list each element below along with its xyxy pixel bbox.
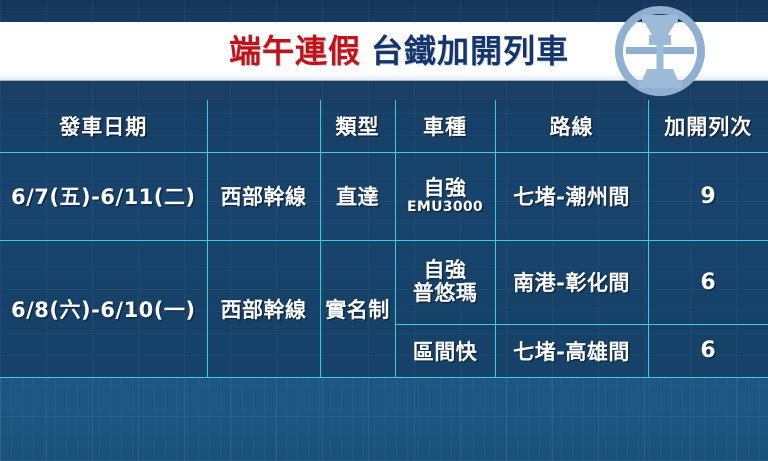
column-header-added-count: 加開列次 <box>648 100 768 152</box>
train-class-model: EMU3000 <box>407 200 483 215</box>
cell-departure-date: 6/7(五)-6/11(二) <box>0 152 207 240</box>
cell-departure-date: 6/8(六)-6/10(一) <box>0 240 207 377</box>
cell-train-class: 自強 普悠瑪 <box>395 240 495 324</box>
title-holiday-label: 端午連假 <box>229 35 361 67</box>
cell-route: 南港-彰化間 <box>495 240 648 324</box>
column-header-train-class: 車種 <box>395 100 495 152</box>
cell-type: 實名制 <box>320 240 395 377</box>
table-row: 6/7(五)-6/11(二) 西部幹線 直達 自強 EMU3000 七堵-潮州間… <box>0 152 768 240</box>
cell-line: 西部幹線 <box>207 240 320 377</box>
tra-railway-logo-icon <box>612 3 708 99</box>
column-header-route: 路線 <box>495 100 648 152</box>
train-class-main: 自強 <box>424 177 467 200</box>
table-row: 6/8(六)-6/10(一) 西部幹線 實名制 自強 普悠瑪 南港-彰化間 6 <box>0 240 768 324</box>
column-header-type: 類型 <box>320 100 395 152</box>
added-trains-table: 發車日期 類型 車種 路線 加開列次 6/7(五)-6/11(二) 西部幹線 直… <box>0 100 768 378</box>
cell-route: 七堵-高雄間 <box>495 324 648 377</box>
train-class-model: 普悠瑪 <box>413 282 478 305</box>
cell-added-count: 6 <box>648 324 768 377</box>
table-header-row-group: 發車日期 類型 車種 路線 加開列次 <box>0 100 768 152</box>
cell-train-class: 自強 EMU3000 <box>395 152 495 240</box>
schedule-panel: 發車日期 類型 車種 路線 加開列次 6/7(五)-6/11(二) 西部幹線 直… <box>0 100 768 378</box>
column-header-blank <box>207 100 320 152</box>
bottom-background-area <box>0 378 768 461</box>
title-main-label: 台鐵加開列車 <box>371 35 569 67</box>
table-body: 6/7(五)-6/11(二) 西部幹線 直達 自強 EMU3000 七堵-潮州間… <box>0 152 768 377</box>
train-class-main: 自強 <box>424 259 467 282</box>
title-text-group: 端午連假 台鐵加開列車 <box>229 35 569 67</box>
cell-added-count: 9 <box>648 152 768 240</box>
cell-train-class: 區間快 <box>395 324 495 377</box>
cell-route: 七堵-潮州間 <box>495 152 648 240</box>
table-header-row: 發車日期 類型 車種 路線 加開列次 <box>0 100 768 152</box>
cell-added-count: 6 <box>648 240 768 324</box>
column-header-departure-date: 發車日期 <box>0 100 207 152</box>
cell-type: 直達 <box>320 152 395 240</box>
cell-line: 西部幹線 <box>207 152 320 240</box>
poster-canvas: 端午連假 台鐵加開列車 <box>0 0 768 461</box>
